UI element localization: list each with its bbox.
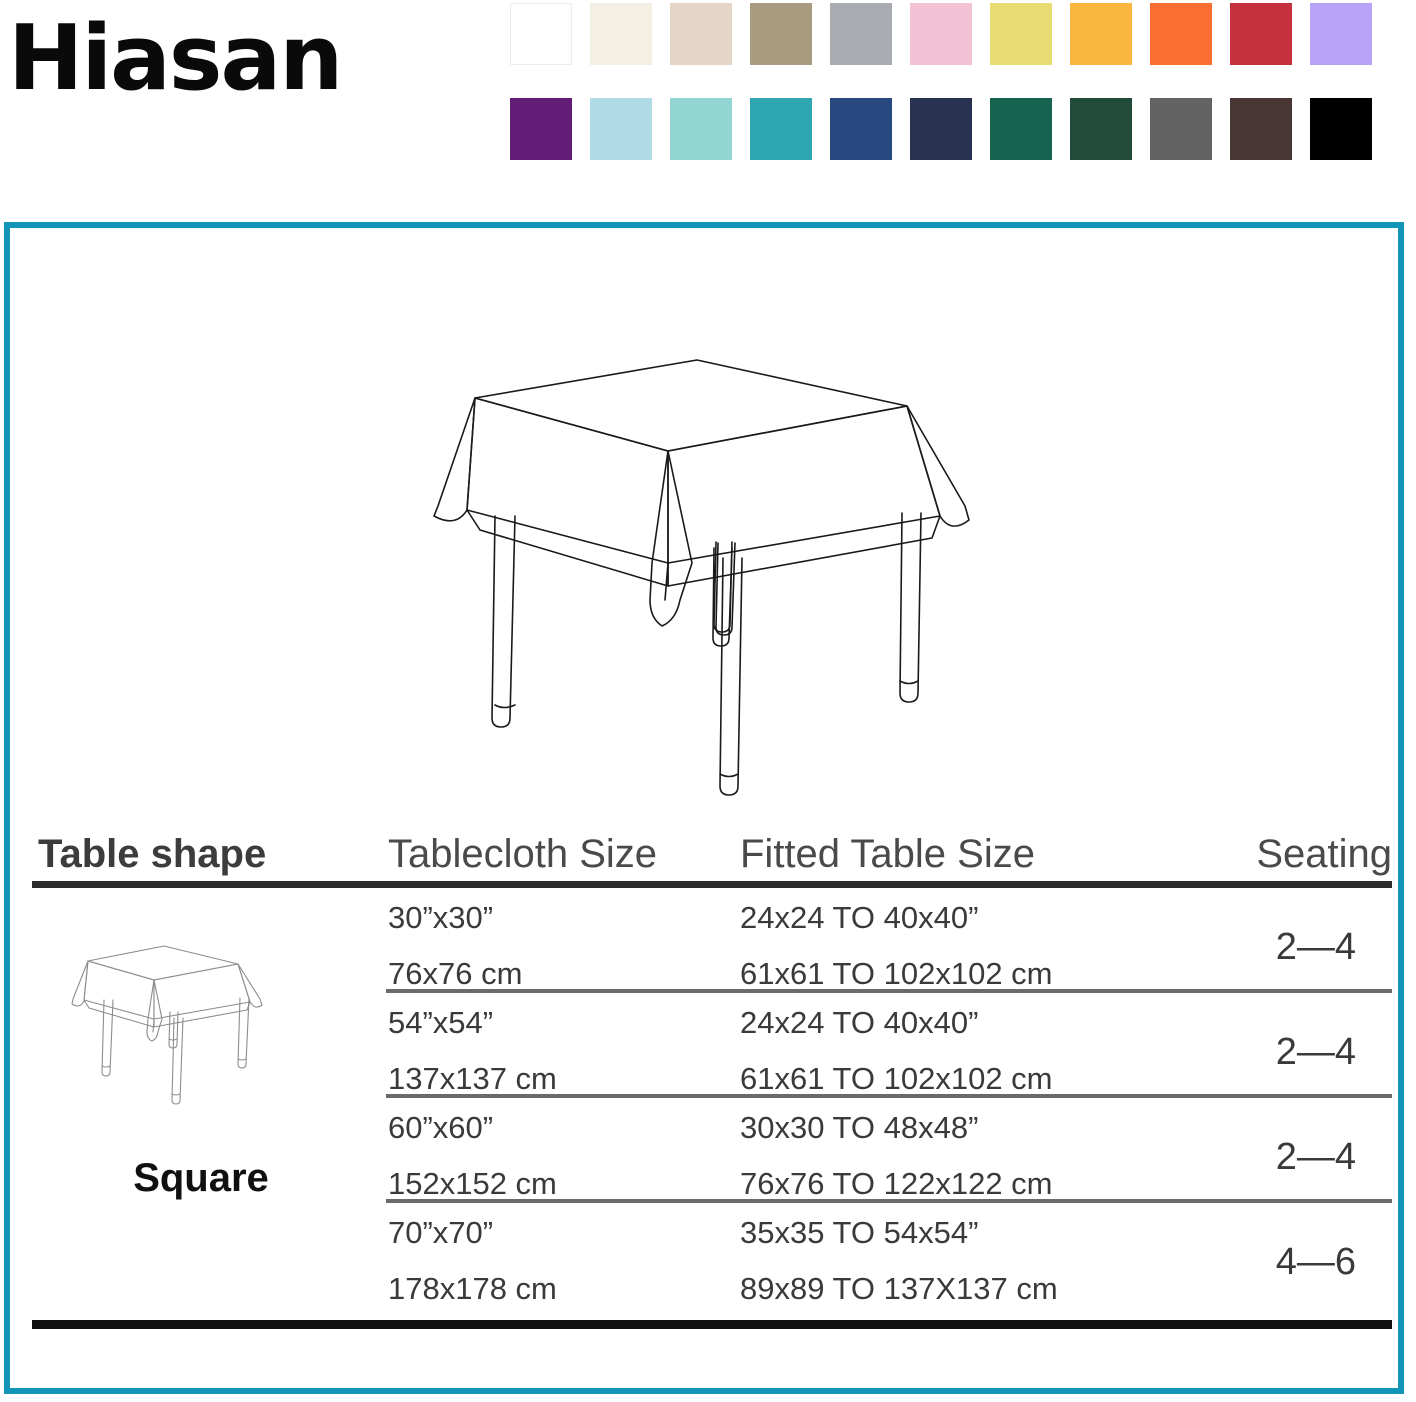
fitted-table-size-inches: 24x24 TO 40x40”	[740, 902, 978, 933]
color-swatch-forest[interactable]	[1070, 98, 1132, 160]
fitted-table-size-cm: 61x61 TO 102x102 cm	[740, 1063, 1053, 1094]
fitted-table-size-inches: 30x30 TO 48x48”	[740, 1112, 978, 1143]
color-swatch-gray[interactable]	[830, 3, 892, 65]
table-shape-cell: Square	[36, 940, 366, 1201]
color-swatch-emerald[interactable]	[990, 98, 1052, 160]
color-swatch-light-blue[interactable]	[590, 98, 652, 160]
tablecloth-size-cm: 152x152 cm	[388, 1168, 557, 1199]
color-swatch-aqua[interactable]	[670, 98, 732, 160]
color-swatch-brown[interactable]	[1230, 98, 1292, 160]
color-swatch-yellow[interactable]	[990, 3, 1052, 65]
square-table-illustration	[420, 338, 1000, 808]
tablecloth-size-cm: 178x178 cm	[388, 1273, 557, 1304]
tablecloth-size-inches: 70”x70”	[388, 1217, 493, 1248]
color-swatch-black[interactable]	[1310, 98, 1372, 160]
seating-capacity: 2—4	[1276, 928, 1356, 966]
column-header-table-shape: Table shape	[38, 834, 266, 874]
table-bottom-divider	[32, 1320, 1392, 1329]
color-swatch-blue[interactable]	[830, 98, 892, 160]
color-swatch-taupe[interactable]	[750, 3, 812, 65]
color-swatch-purple[interactable]	[510, 98, 572, 160]
column-header-tablecloth-size: Tablecloth Size	[388, 834, 657, 874]
swatch-row-top	[510, 3, 1410, 65]
table-header-row: Table shape Tablecloth Size Fitted Table…	[32, 812, 1392, 874]
fitted-table-size-cm: 89x89 TO 137X137 cm	[740, 1273, 1058, 1304]
color-swatch-dark-gray[interactable]	[1150, 98, 1212, 160]
tablecloth-size-inches: 30”x30”	[388, 902, 493, 933]
fitted-table-size-cm: 61x61 TO 102x102 cm	[740, 958, 1053, 989]
table-row: 70”x70”178x178 cm35x35 TO 54x54”89x89 TO…	[32, 1203, 1392, 1309]
color-swatch-pink[interactable]	[910, 3, 972, 65]
swatch-row-bottom	[510, 98, 1410, 160]
seating-capacity: 2—4	[1276, 1033, 1356, 1071]
tablecloth-size-cm: 137x137 cm	[388, 1063, 557, 1094]
fitted-table-size-cm: 76x76 TO 122x122 cm	[740, 1168, 1053, 1199]
color-swatch-lavender[interactable]	[1310, 3, 1372, 65]
seating-capacity: 4—6	[1276, 1243, 1356, 1281]
color-swatch-teal[interactable]	[750, 98, 812, 160]
tablecloth-size-inches: 54”x54”	[388, 1007, 493, 1038]
column-header-fitted-table-size: Fitted Table Size	[740, 834, 1035, 874]
fitted-table-size-inches: 35x35 TO 54x54”	[740, 1217, 978, 1248]
color-swatch-amber[interactable]	[1070, 3, 1132, 65]
color-swatch-beige[interactable]	[670, 3, 732, 65]
color-swatch-orange[interactable]	[1150, 3, 1212, 65]
header-divider	[32, 881, 1392, 888]
tablecloth-size-inches: 60”x60”	[388, 1112, 493, 1143]
color-swatch-cream[interactable]	[590, 3, 652, 65]
brand-logo: Hiasan	[8, 14, 341, 104]
color-swatch-navy[interactable]	[910, 98, 972, 160]
table-shape-label: Square	[36, 1156, 366, 1201]
color-swatch-white[interactable]	[510, 3, 572, 65]
tablecloth-size-cm: 76x76 cm	[388, 958, 522, 989]
color-swatch-crimson[interactable]	[1230, 3, 1292, 65]
header-banner: Hiasan	[0, 0, 1416, 200]
color-swatch-palette	[510, 3, 1410, 193]
size-chart-panel: Table shape Tablecloth Size Fitted Table…	[4, 222, 1404, 1394]
fitted-table-size-inches: 24x24 TO 40x40”	[740, 1007, 978, 1038]
column-header-seating: Seating	[1256, 834, 1392, 874]
seating-capacity: 2—4	[1276, 1138, 1356, 1176]
square-table-icon	[66, 940, 336, 1150]
